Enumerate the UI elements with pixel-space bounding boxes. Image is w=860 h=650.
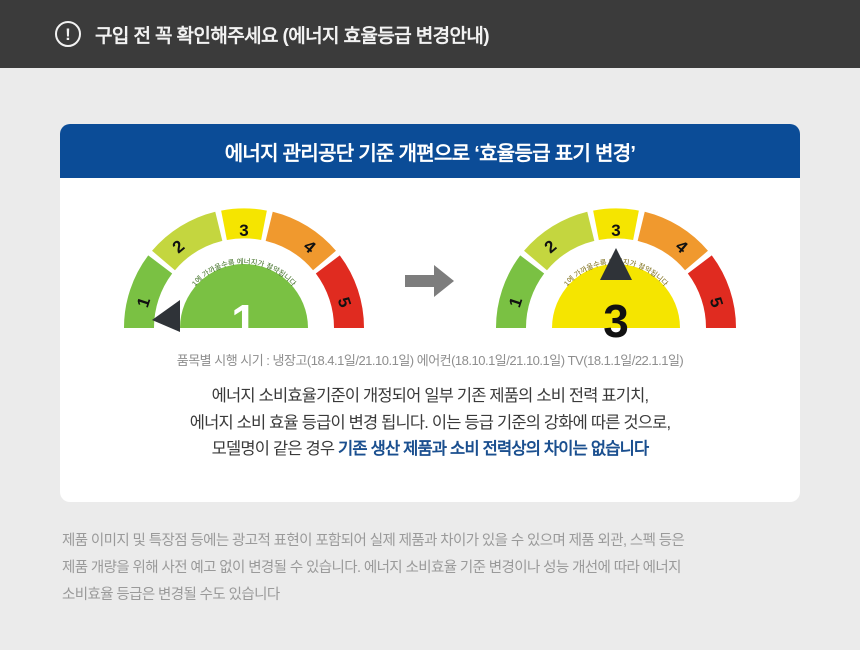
transition-arrow bbox=[402, 264, 458, 340]
card-header-banner: 에너지 관리공단 기준 개편으로 ‘효율등급 표기 변경’ bbox=[60, 124, 800, 178]
card-header-title: 에너지 관리공단 기준 개편으로 ‘효율등급 표기 변경’ bbox=[225, 137, 636, 166]
exclamation-circle-icon: ! bbox=[55, 21, 81, 47]
energy-gauge-after: 1 2 3 4 5 1에 가까울수록 에너지가 절약됩니다 3 bbox=[494, 204, 738, 340]
gauge-label-3: 3 bbox=[239, 221, 248, 240]
description-line-3-emphasis: 기존 생산 제품과 소비 전력상의 차이는 없습니다 bbox=[338, 440, 648, 458]
energy-grade-card: 에너지 관리공단 기준 개편으로 ‘효율등급 표기 변경’ 1 bbox=[60, 124, 800, 502]
right-arrow-icon bbox=[405, 264, 455, 298]
disclaimer-line-2: 제품 개량을 위해 사전 예고 없이 변경될 수 있습니다. 에너지 소비효율 … bbox=[62, 555, 802, 582]
description-line-1: 에너지 소비효율기준이 개정되어 일부 기존 제품의 소비 전력 표기치, bbox=[60, 383, 800, 410]
disclaimer-line-3: 소비효율 등급은 변경될 수도 있습니다 bbox=[62, 582, 802, 609]
gauge-comparison-row: 1 2 3 4 5 1에 가까울수록 에너지가 절약됩니다 1 bbox=[60, 178, 800, 340]
description-line-2: 에너지 소비 효율 등급이 변경 됩니다. 이는 등급 기준의 강화에 따른 것… bbox=[60, 410, 800, 437]
legal-disclaimer: 제품 이미지 및 특장점 등에는 광고적 표현이 포함되어 실제 제품과 차이가… bbox=[62, 528, 802, 608]
energy-gauge-before: 1 2 3 4 5 1에 가까울수록 에너지가 절약됩니다 1 bbox=[122, 204, 366, 340]
description-block: 에너지 소비효율기준이 개정되어 일부 기존 제품의 소비 전력 표기치, 에너… bbox=[60, 383, 800, 463]
disclaimer-line-1: 제품 이미지 및 특장점 등에는 광고적 표현이 포함되어 실제 제품과 차이가… bbox=[62, 528, 802, 555]
gauge-grade-value-before: 1 bbox=[122, 298, 366, 344]
gauge-grade-value-after: 3 bbox=[494, 298, 738, 344]
gauge-label-3: 3 bbox=[611, 221, 620, 240]
description-line-3: 모델명이 같은 경우 기존 생산 제품과 소비 전력상의 차이는 없습니다 bbox=[60, 436, 800, 463]
notice-header-title: 구입 전 꼭 확인해주세요 (에너지 효율등급 변경안내) bbox=[95, 21, 489, 48]
description-line-3-normal: 모델명이 같은 경우 bbox=[212, 440, 338, 458]
notice-header-bar: ! 구입 전 꼭 확인해주세요 (에너지 효율등급 변경안내) bbox=[0, 0, 860, 68]
exclamation-glyph: ! bbox=[65, 26, 71, 43]
schedule-note: 품목별 시행 시기 : 냉장고(18.4.1일/21.10.1일) 에어컨(18… bbox=[60, 350, 800, 369]
